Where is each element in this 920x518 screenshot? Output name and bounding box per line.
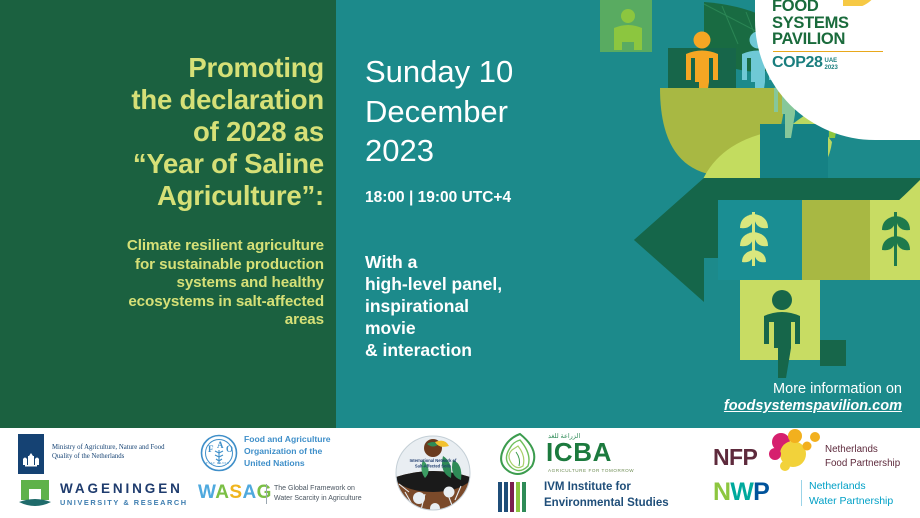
ivm-bars-icon <box>498 482 538 512</box>
wasag-tagline: The Global Framework on Water Scarcity i… <box>274 484 362 504</box>
subtitle-line: systems and healthy <box>14 274 324 292</box>
logo-ministry-of-agriculture: Ministry of Agriculture, Nature and Food… <box>10 433 185 475</box>
svg-text:Salt-Affected Soils: Salt-Affected Soils <box>415 464 452 469</box>
nwp-divider <box>801 480 802 506</box>
nfp-wordmark: NFP <box>713 444 757 471</box>
svg-text:International Network of: International Network of <box>410 458 457 463</box>
nwp-label-line: Water Partnership <box>809 494 893 509</box>
event-date-line: Sunday 10 <box>365 52 595 92</box>
cop28-sublabel: UAE2023 <box>824 58 837 72</box>
cop28-label: COP28 <box>772 54 822 72</box>
event-format-line: & interaction <box>365 339 595 361</box>
logo-fao: F A O FIAT PANIS Food and Agriculture Or… <box>200 432 380 476</box>
fao-label-line: Organization of the <box>244 445 331 457</box>
headline-line: of 2028 as <box>14 116 324 148</box>
headline-line: “Year of Saline <box>14 148 324 180</box>
food-systems-pavilion-wordmark: FOOD SYSTEMS PAVILION COP28 UAE2023 <box>772 0 892 72</box>
nwp-letter: W <box>730 478 753 506</box>
fao-label: Food and Agriculture Organization of the… <box>244 433 331 470</box>
more-info-label: More information on <box>724 381 902 397</box>
logo-insas: International Network of Salt-Affected S… <box>385 434 481 512</box>
event-format-line: inspirational <box>365 295 595 317</box>
icba-leaf-icon <box>498 432 542 478</box>
wageningen-tagline: UNIVERSITY & RESEARCH <box>60 498 188 507</box>
cop28-badge: COP28 UAE2023 <box>772 54 892 72</box>
wasag-tagline-line: Water Scarcity in Agriculture <box>274 494 362 504</box>
wasag-letter: A <box>215 482 229 503</box>
icba-tagline: AGRICULTURE FOR TOMORROW <box>548 468 634 473</box>
wageningen-name: WAGENINGEN <box>60 481 188 496</box>
nfp-blob-icon <box>765 428 825 474</box>
ministry-label: Ministry of Agriculture, Nature and Food… <box>52 443 184 461</box>
banner: Promoting the declaration of 2028 as “Ye… <box>0 0 920 428</box>
wasag-wordmark: WASAG <box>198 482 272 504</box>
subtitle: Climate resilient agriculture for sustai… <box>14 237 324 329</box>
wageningen-wordmark: WAGENINGEN UNIVERSITY & RESEARCH <box>60 481 188 507</box>
ivm-label: IVM Institute for Environmental Studies <box>544 480 669 512</box>
website-link[interactable]: foodsystemspavilion.com <box>724 398 902 414</box>
fao-label-line: United Nations <box>244 457 331 469</box>
event-format: With a high-level panel, inspirational m… <box>365 251 595 361</box>
wasag-divider <box>266 484 267 504</box>
nwp-wordmark: NWP <box>713 478 769 507</box>
event-date: Sunday 10 December 2023 <box>365 52 595 171</box>
ministry-crest-icon <box>21 453 41 468</box>
logo-nfp: NFP Netherlands Food Partnership <box>705 430 910 474</box>
event-format-line: movie <box>365 317 595 339</box>
event-format-line: With a <box>365 251 595 273</box>
nfp-label-line: Netherlands <box>825 443 900 457</box>
ivm-label-line: IVM Institute for <box>544 480 669 496</box>
fsp-line-3: PAVILION <box>772 31 892 48</box>
logo-wasag: WASAG The Global Framework on Water Scar… <box>198 480 383 516</box>
left-text-block: Promoting the declaration of 2028 as “Ye… <box>14 52 324 329</box>
event-date-line: 2023 <box>365 131 595 171</box>
wasag-tagline-line: The Global Framework on <box>274 484 362 494</box>
page-title: Promoting the declaration of 2028 as “Ye… <box>14 52 324 211</box>
subtitle-line: ecosystems in salt-affected <box>14 293 324 311</box>
more-information: More information on foodsystemspavilion.… <box>724 381 902 414</box>
fao-label-line: Food and Agriculture <box>244 433 331 445</box>
headline-line: the declaration <box>14 84 324 116</box>
logo-wageningen-university: WAGENINGEN UNIVERSITY & RESEARCH <box>10 476 190 516</box>
fsp-line-2: SYSTEMS <box>772 15 892 32</box>
middle-text-block: Sunday 10 December 2023 18:00 | 19:00 UT… <box>365 52 595 361</box>
fao-emblem-icon: F A O FIAT PANIS <box>200 434 238 472</box>
event-date-line: December <box>365 92 595 132</box>
subtitle-line: for sustainable production <box>14 256 324 274</box>
wageningen-mark-icon <box>18 478 52 512</box>
nwp-label-line: Netherlands <box>809 479 893 494</box>
svg-text:F: F <box>208 444 214 454</box>
wasag-letter: W <box>198 482 215 503</box>
svg-text:A: A <box>217 440 224 450</box>
fsp-divider <box>773 51 883 53</box>
insas-disc-icon: International Network of Salt-Affected S… <box>385 434 481 512</box>
nfp-label: Netherlands Food Partnership <box>825 443 900 470</box>
svg-text:O: O <box>226 444 233 454</box>
event-time: 18:00 | 19:00 UTC+4 <box>365 189 595 207</box>
nwp-letter: P <box>753 478 769 506</box>
event-format-line: high-level panel, <box>365 273 595 295</box>
wasag-letter: S <box>229 482 242 503</box>
fsp-line-1: FOOD <box>772 0 892 15</box>
poster: Promoting the declaration of 2028 as “Ye… <box>0 0 920 518</box>
wasag-letter: A <box>243 482 257 503</box>
ivm-label-line: Environmental Studies <box>544 496 669 512</box>
nfp-label-line: Food Partnership <box>825 457 900 471</box>
logo-icba: الزراعة للغد ICBA AGRICULTURE FOR TOMORR… <box>498 432 643 478</box>
wasag-letter: G <box>257 482 272 503</box>
headline-line: Promoting <box>14 52 324 84</box>
headline-line: Agriculture”: <box>14 180 324 212</box>
logo-nwp: NWP Netherlands Water Partnership <box>705 476 910 518</box>
nwp-letter: N <box>713 478 730 506</box>
partner-logos-footer: Ministry of Agriculture, Nature and Food… <box>0 428 920 518</box>
subtitle-line: Climate resilient agriculture <box>14 237 324 255</box>
logo-ivm: IVM Institute for Environmental Studies <box>498 480 688 518</box>
svg-text:FIAT PANIS: FIAT PANIS <box>206 461 229 465</box>
subtitle-line: areas <box>14 311 324 329</box>
nwp-label: Netherlands Water Partnership <box>809 479 893 508</box>
icba-wordmark: ICBA <box>546 439 612 465</box>
